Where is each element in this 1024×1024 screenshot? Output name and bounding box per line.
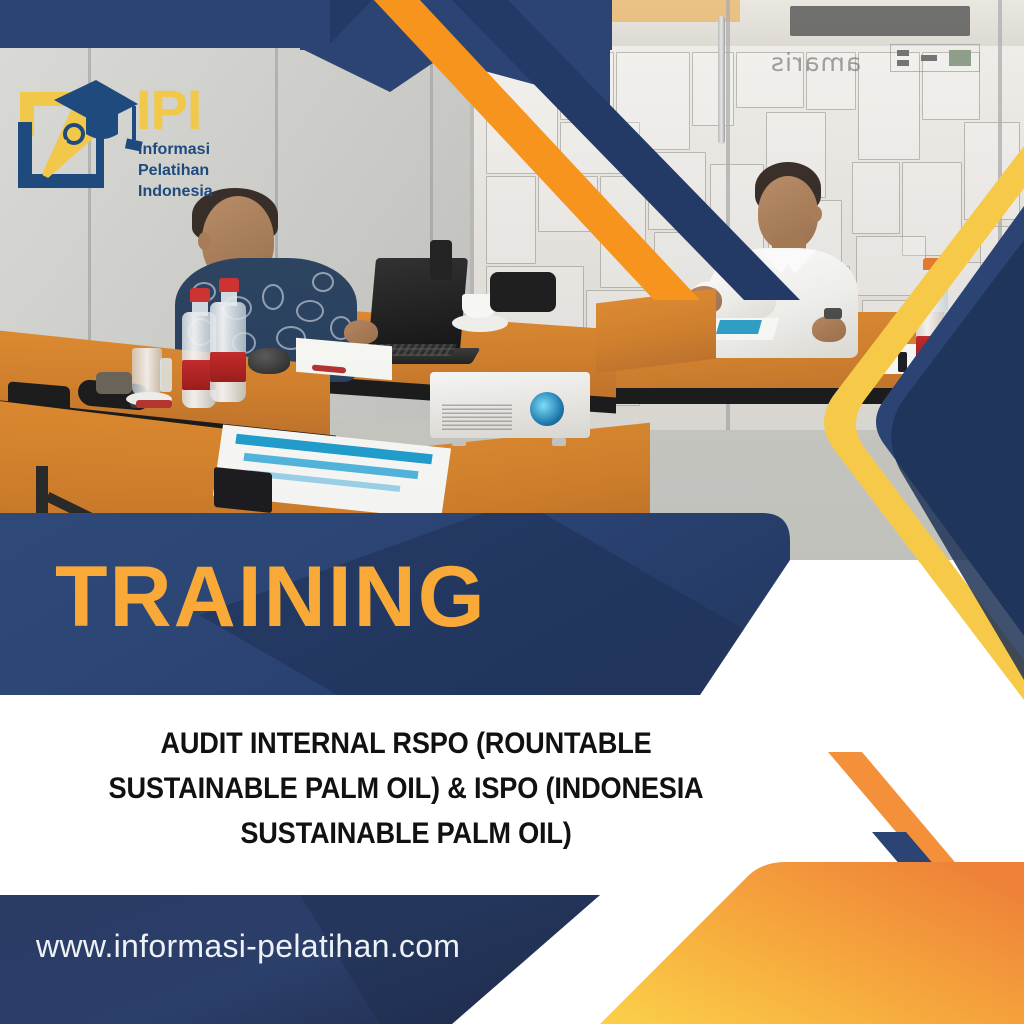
headline-line-1: AUDIT INTERNAL RSPO (ROUNTABLE — [32, 722, 779, 767]
logo-acronym: IPI — [136, 82, 201, 138]
door-handle-icon — [718, 16, 725, 144]
computer-mouse — [248, 348, 290, 374]
headline: AUDIT INTERNAL RSPO (ROUNTABLE SUSTAINAB… — [32, 722, 779, 856]
logo-tagline-line1: Informasi — [138, 140, 213, 161]
graduation-cap-pen-icon — [14, 78, 144, 198]
logo: IPI Informasi Pelatihan Indonesia — [14, 78, 244, 198]
banner-title: TRAINING — [55, 548, 487, 647]
footer-website: www.informasi-pelatihan.com — [36, 928, 460, 965]
laptop-screen — [368, 258, 468, 350]
headline-line-3: SUSTAINABLE PALM OIL) — [32, 812, 779, 857]
training-poster: amaris — [0, 0, 1024, 1024]
logo-tagline: Informasi Pelatihan Indonesia — [138, 140, 213, 202]
projector-lens-icon — [530, 392, 564, 426]
headline-line-2: SUSTAINABLE PALM OIL) & ISPO (INDONESIA — [32, 767, 779, 812]
logo-tagline-line2: Pelatihan — [138, 161, 213, 182]
amaris-signage: amaris — [770, 48, 861, 77]
drinking-glass — [944, 310, 970, 360]
logo-tagline-line3: Indonesia — [138, 182, 213, 203]
